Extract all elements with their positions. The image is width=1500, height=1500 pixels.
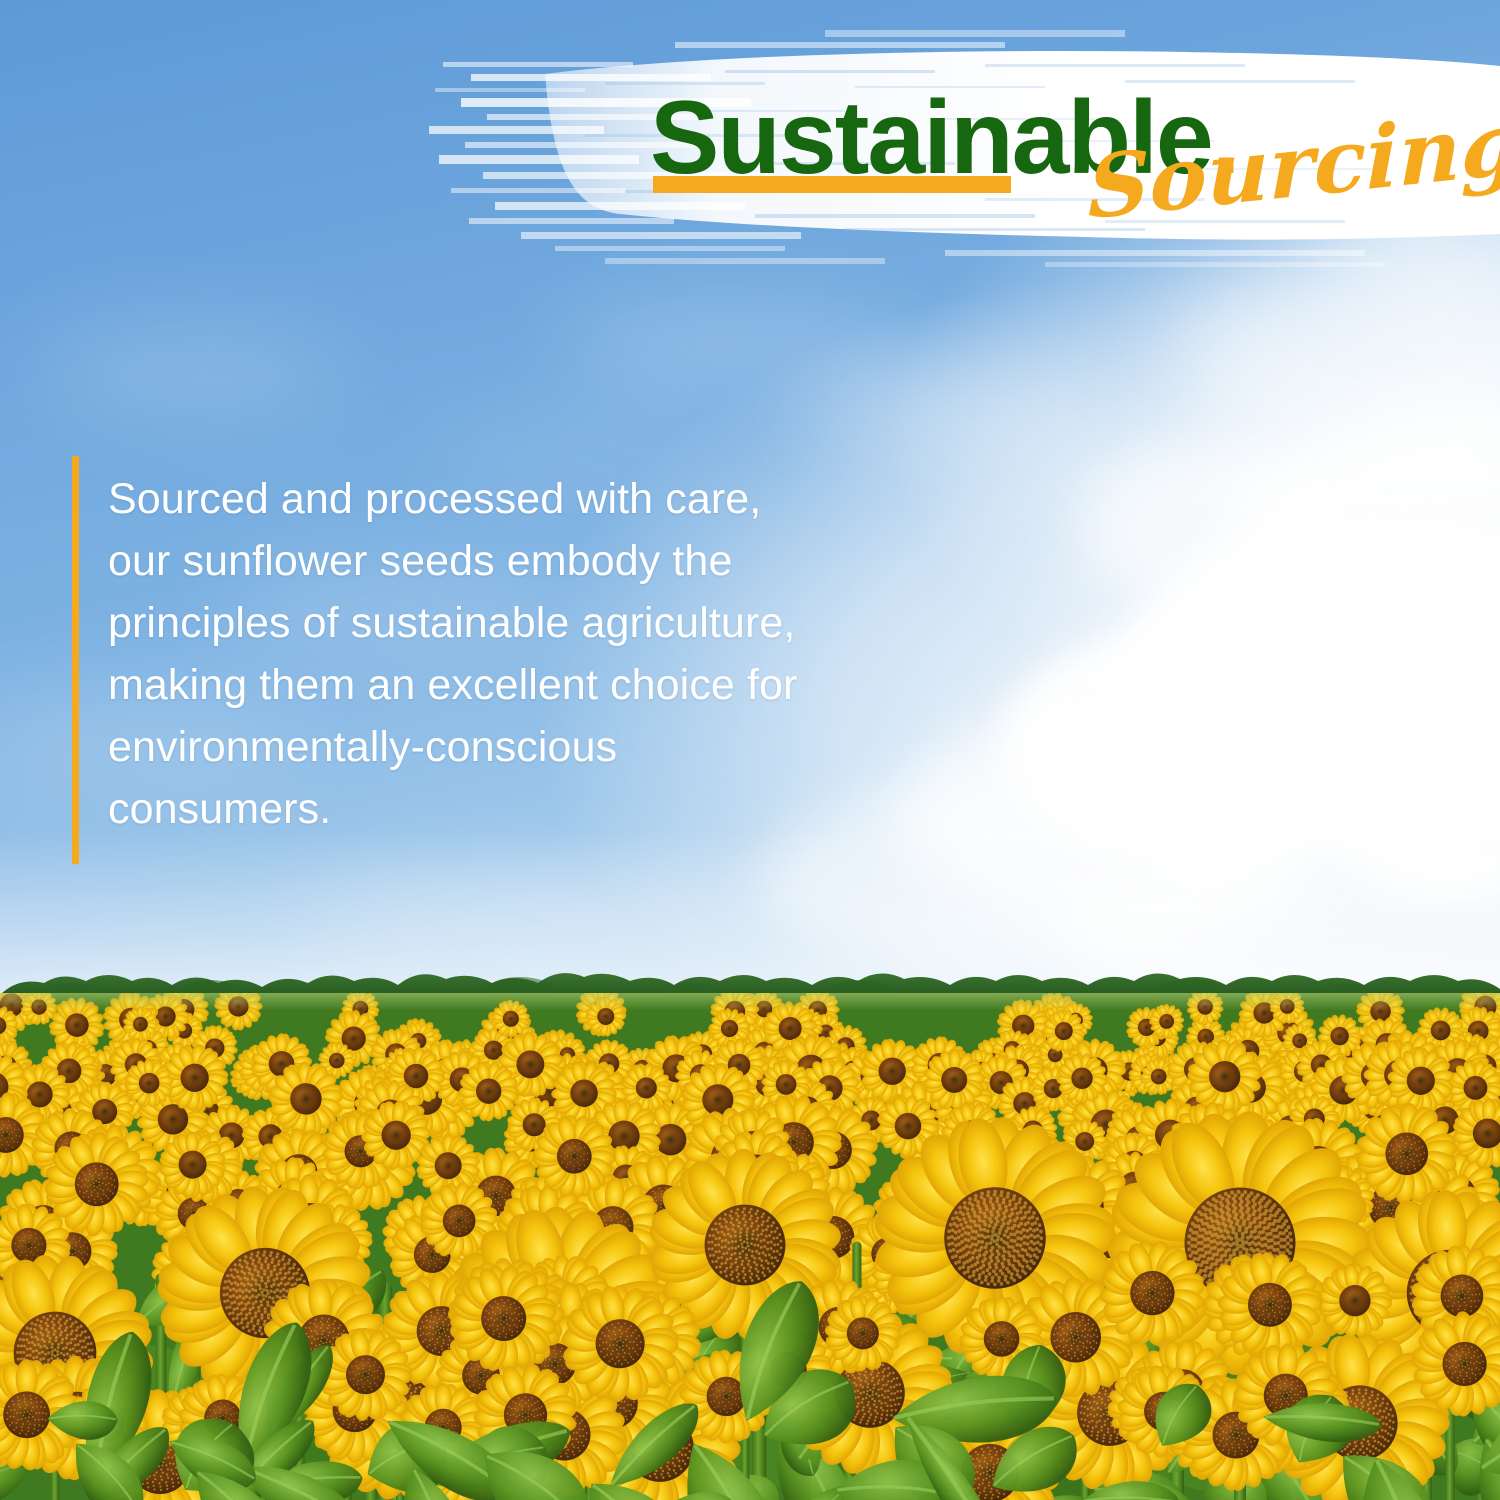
field-body — [0, 993, 1500, 1500]
sunflowers — [0, 993, 1500, 1500]
sunflower-field-photo — [0, 965, 1500, 1500]
headline-underline-bar — [653, 176, 1011, 193]
body-line: making them an excellent choice for — [108, 654, 828, 716]
poster: Sustainable. Sourcing Sourced and proces… — [0, 0, 1500, 1500]
body-paragraph: Sourced and processed with care, our sun… — [108, 468, 828, 840]
body-accent-bar — [72, 456, 79, 864]
body-line: environmentally-conscious — [108, 716, 828, 778]
body-line: consumers. — [108, 778, 828, 840]
body-line: our sunflower seeds embody the — [108, 530, 828, 592]
body-line: Sourced and processed with care, — [108, 468, 828, 530]
body-line: principles of sustainable agriculture, — [108, 592, 828, 654]
